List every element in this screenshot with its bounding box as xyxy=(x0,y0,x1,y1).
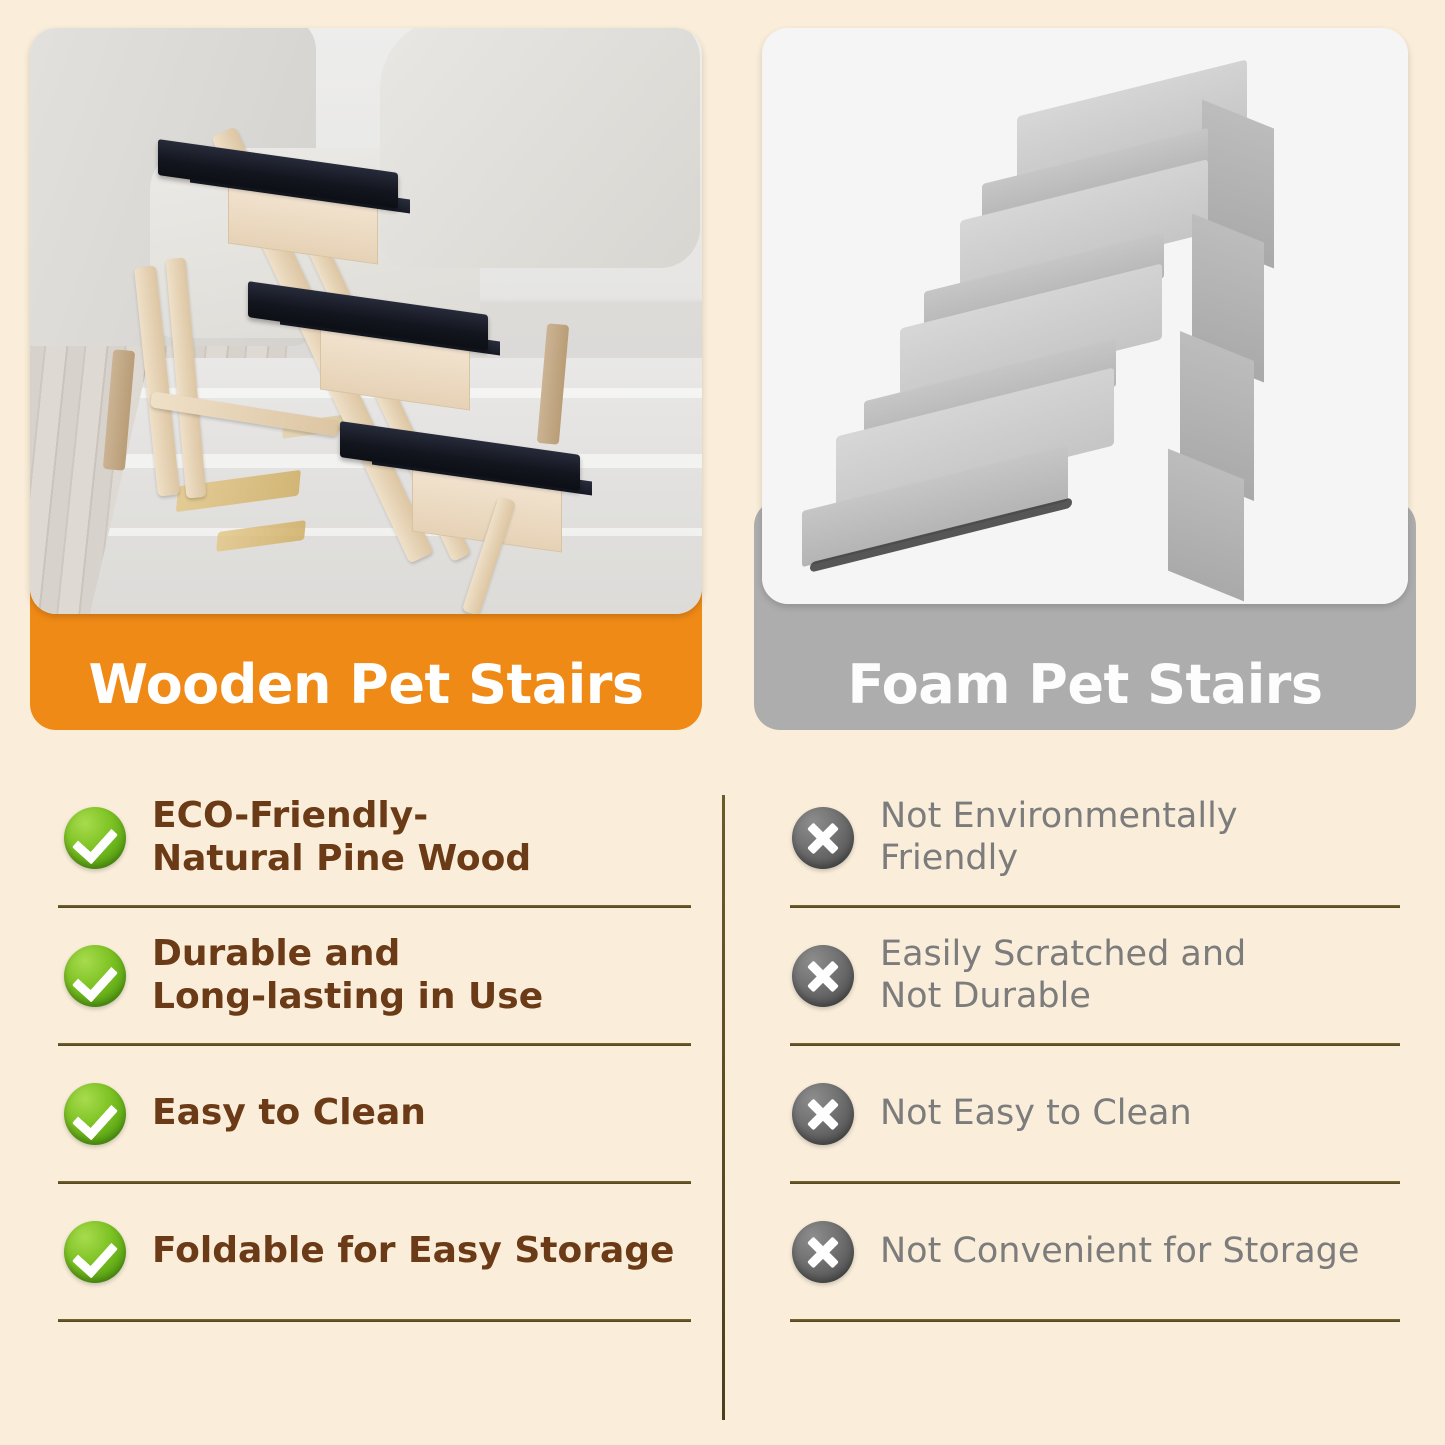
cons-column-foam: Not Environmentally Friendly Easily Scra… xyxy=(790,770,1410,1322)
feature-line: Foldable for Easy Storage xyxy=(152,1230,674,1272)
feature-row: Durable and Long-lasting in Use xyxy=(58,908,703,1043)
foam-stairs-product xyxy=(832,78,1332,548)
feature-line: Not Convenient for Storage xyxy=(880,1231,1359,1272)
feature-label: Durable and Long-lasting in Use xyxy=(152,933,543,1018)
column-divider xyxy=(722,795,725,1420)
cross-icon xyxy=(792,945,854,1007)
wooden-pet-stairs-photo xyxy=(30,28,702,614)
feature-row: Not Environmentally Friendly xyxy=(790,770,1410,905)
row-separator xyxy=(58,1319,691,1322)
pros-column-wooden: ECO-Friendly- Natural Pine Wood Durable … xyxy=(58,770,703,1322)
feature-line: Easily Scratched and xyxy=(880,934,1246,975)
feature-line: Not Durable xyxy=(880,976,1246,1017)
feature-line: Not Environmentally xyxy=(880,796,1238,837)
feature-comparison: ECO-Friendly- Natural Pine Wood Durable … xyxy=(0,770,1445,1445)
cross-icon xyxy=(792,807,854,869)
row-separator xyxy=(790,1319,1400,1322)
feature-line: Long-lasting in Use xyxy=(152,976,543,1018)
feature-label: Foldable for Easy Storage xyxy=(152,1230,674,1272)
feature-line: ECO-Friendly- xyxy=(152,795,531,837)
product-cards: Wooden Pet Stairs xyxy=(0,0,1445,760)
cross-icon xyxy=(792,1221,854,1283)
foam-pet-stairs-photo xyxy=(762,28,1408,604)
feature-line: Not Easy to Clean xyxy=(880,1093,1192,1134)
card-foam-pet-stairs[interactable]: Foam Pet Stairs xyxy=(754,28,1416,730)
feature-row: Easy to Clean xyxy=(58,1046,703,1181)
check-icon xyxy=(64,945,126,1007)
feature-row: Foldable for Easy Storage xyxy=(58,1184,703,1319)
card-wooden-pet-stairs[interactable]: Wooden Pet Stairs xyxy=(30,28,702,730)
feature-line: Durable and xyxy=(152,933,543,975)
check-icon xyxy=(64,1221,126,1283)
cross-icon xyxy=(792,1083,854,1145)
card-title-foam: Foam Pet Stairs xyxy=(847,658,1322,712)
feature-line: Natural Pine Wood xyxy=(152,838,531,880)
feature-label: Not Environmentally Friendly xyxy=(880,796,1238,879)
feature-label: Not Easy to Clean xyxy=(880,1093,1192,1134)
feature-label: Not Convenient for Storage xyxy=(880,1231,1359,1272)
feature-row: Easily Scratched and Not Durable xyxy=(790,908,1410,1043)
feature-label: ECO-Friendly- Natural Pine Wood xyxy=(152,795,531,880)
check-icon xyxy=(64,807,126,869)
check-icon xyxy=(64,1083,126,1145)
wooden-stairs-product xyxy=(150,148,620,598)
feature-label: Easily Scratched and Not Durable xyxy=(880,934,1246,1017)
living-room-scene xyxy=(30,28,702,614)
feature-row: Not Convenient for Storage xyxy=(790,1184,1410,1319)
feature-row: Not Easy to Clean xyxy=(790,1046,1410,1181)
feature-label: Easy to Clean xyxy=(152,1092,426,1134)
feature-line: Friendly xyxy=(880,838,1238,879)
card-title-wooden: Wooden Pet Stairs xyxy=(88,658,643,712)
feature-line: Easy to Clean xyxy=(152,1092,426,1134)
comparison-infographic: Wooden Pet Stairs xyxy=(0,0,1445,1445)
foam-product-scene xyxy=(762,28,1408,604)
feature-row: ECO-Friendly- Natural Pine Wood xyxy=(58,770,703,905)
